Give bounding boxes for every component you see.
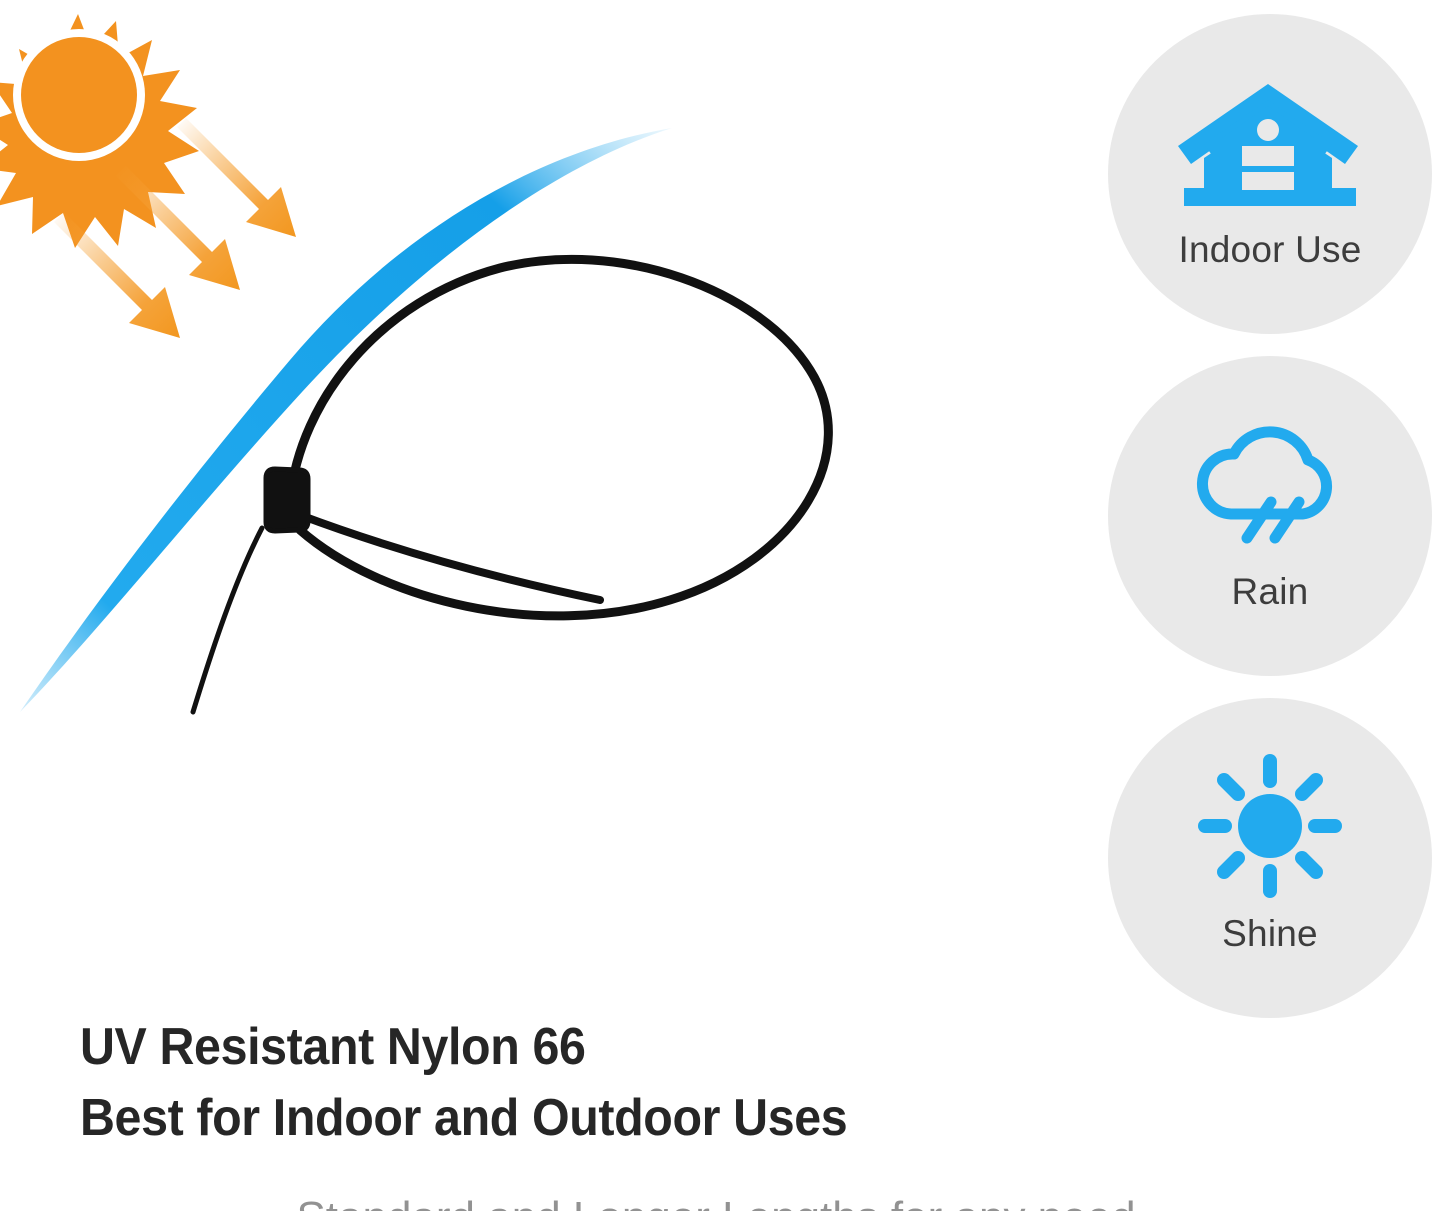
product-infographic: Indoor Use Rain: [0, 0, 1432, 1211]
feature-badge-label: Shine: [1222, 915, 1318, 952]
rain-cloud-icon: [1175, 409, 1365, 559]
headline-block: UV Resistant Nylon 66 Best for Indoor an…: [80, 1012, 1080, 1154]
feature-badge-indoor-use[interactable]: Indoor Use: [1108, 14, 1432, 334]
cable-tie-graphic: [193, 259, 828, 712]
sun-ray-arrow-1: [177, 118, 296, 237]
house-icon: [1175, 67, 1365, 217]
headline-line-1: UV Resistant Nylon 66: [80, 1012, 1010, 1083]
uv-resistant-cable-tie-scene: [0, 0, 900, 760]
feature-badge-rain[interactable]: Rain: [1108, 356, 1432, 676]
illustration-stage: [0, 0, 900, 760]
headline-line-2: Best for Indoor and Outdoor Uses: [80, 1083, 1010, 1154]
bottom-caption-text: Standard and Longer Lengths for any need: [0, 1196, 1432, 1211]
feature-badge-shine[interactable]: Shine: [1108, 698, 1432, 1018]
feature-badge-label: Indoor Use: [1179, 231, 1362, 268]
sun-shine-icon: [1175, 751, 1365, 901]
feature-badge-label: Rain: [1232, 573, 1309, 610]
bottom-caption-clipped: Standard and Longer Lengths for any need: [0, 1196, 1432, 1211]
feature-badge-column: Indoor Use Rain: [1108, 14, 1432, 1018]
